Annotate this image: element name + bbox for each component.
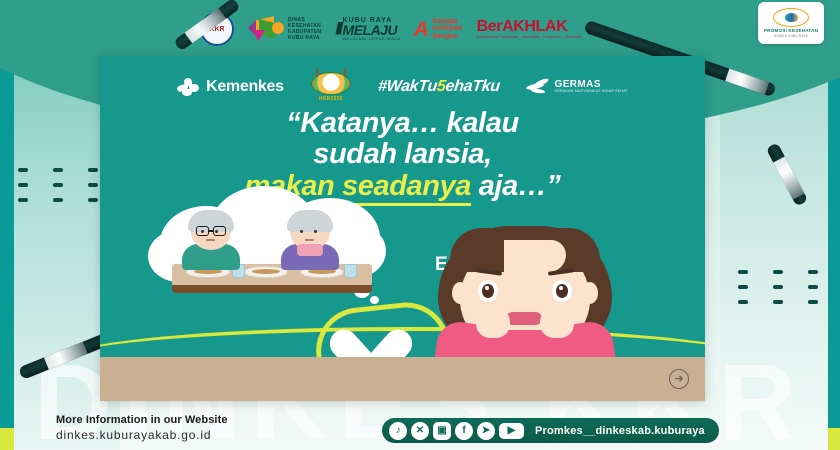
social-handle: Promkes__dinkeskab.kuburaya [535, 425, 705, 437]
berakhlak-subtitle: Berorientasi Pelayanan - Akuntabel - Kom… [477, 36, 583, 40]
elderly-couple-illustration [172, 214, 372, 286]
website-url[interactable]: dinkes.kuburayakab.go.id [56, 428, 228, 443]
counter-surface [100, 357, 705, 401]
kemenkes-label: Kemenkes [206, 78, 284, 96]
hashtag-suffix: ehaTku [444, 78, 500, 95]
instagram-icon[interactable]: ▣ [433, 422, 451, 440]
youtube-icon[interactable]: ▶ [499, 423, 524, 439]
kubu-raya-melaju-logo: /// KUBU RAYA MELAJU MELAYANI UNTUK MAJU [335, 17, 400, 41]
promkes-badge-subtitle: DINKES KUBU RAYA [774, 34, 808, 38]
melaju-stripes-icon: /// [335, 19, 340, 39]
melaju-label: KUBU RAYA MELAJU MELAYANI UNTUK MAJU [343, 17, 401, 41]
dot-grid-right [738, 270, 818, 304]
website-label: More Information in our Website [56, 414, 228, 428]
bangga-melayani-bangsa-logo: A banggamelayanibangsa [414, 18, 462, 40]
tiktok-icon[interactable]: ♪ [389, 422, 407, 440]
facebook-icon[interactable]: f [455, 422, 473, 440]
headline-line-2: sudah lansia, [100, 139, 705, 170]
poster-header-row: Kemenkes HGN2026 #WakTu5ehaTku GERMAS GE… [100, 70, 705, 104]
telegram-icon[interactable]: ➤ [477, 422, 495, 440]
dinas-kesehatan-logo: DINASKESEHATANKABUPATENKUBU RAYA [248, 16, 321, 42]
waktu-sehatku-hashtag: #WakTu5ehaTku [377, 78, 501, 96]
dinas-kesehatan-mark-icon [248, 16, 284, 42]
berakhlak-logo: BerAKHLAK Berorientasi Pelayanan - Akunt… [477, 19, 583, 40]
food-plate-icon [311, 72, 351, 95]
dot-grid-left [18, 168, 98, 202]
social-media-bar: ♪ ✕ ▣ f ➤ ▶ Promkes__dinkeskab.kuburaya [382, 418, 719, 443]
thought-cloud [148, 184, 393, 296]
cup-icon [344, 264, 357, 278]
germas-bird-icon [526, 79, 550, 96]
germas-logo: GERMAS GERAKAN MASYARAKAT HIDUP SEHAT [526, 79, 628, 96]
poster-canvas: DINKES KKR KKR DINASKESEHATANKABUPATENKU… [0, 0, 840, 450]
kemenkes-mark-icon [177, 78, 199, 97]
hgn-label: HGN2026 [319, 96, 343, 102]
germas-subtitle: GERAKAN MASYARAKAT HIDUP SEHAT [555, 90, 628, 94]
kemenkes-logo: Kemenkes [177, 78, 284, 97]
elderly-man-figure [178, 212, 246, 268]
promkes-ring-icon [773, 8, 809, 27]
hashtag-prefix: #WakTu [377, 78, 438, 95]
poster-card: Kemenkes HGN2026 #WakTu5ehaTku GERMAS GE… [100, 56, 705, 401]
heart-icon [345, 313, 399, 361]
dinas-kesehatan-label: DINASKESEHATANKABUPATENKUBU RAYA [288, 17, 321, 42]
bangga-label: banggamelayanibangsa [433, 18, 463, 40]
promkes-badge-title: PROMOSI KESEHATAN [764, 28, 818, 33]
next-slide-button[interactable]: ➜ [669, 369, 689, 389]
hgn-logo: HGN2026 [310, 72, 352, 102]
headline-line-1: “Katanya… kalau [100, 108, 705, 139]
website-info: More Information in our Website dinkes.k… [56, 414, 228, 443]
elderly-woman-figure [277, 212, 345, 268]
berakhlak-title: BerAKHLAK [477, 19, 583, 35]
germas-label: GERMAS GERAKAN MASYARAKAT HIDUP SEHAT [555, 80, 628, 94]
headline-line-3-rest: aja…” [471, 170, 560, 202]
bangga-mark-icon: A [413, 19, 432, 40]
eyeglasses-icon [196, 226, 228, 236]
girl-character-illustration [430, 226, 620, 376]
promosi-kesehatan-badge: PROMOSI KESEHATAN DINKES KUBU RAYA [758, 2, 824, 44]
x-twitter-icon[interactable]: ✕ [411, 422, 429, 440]
